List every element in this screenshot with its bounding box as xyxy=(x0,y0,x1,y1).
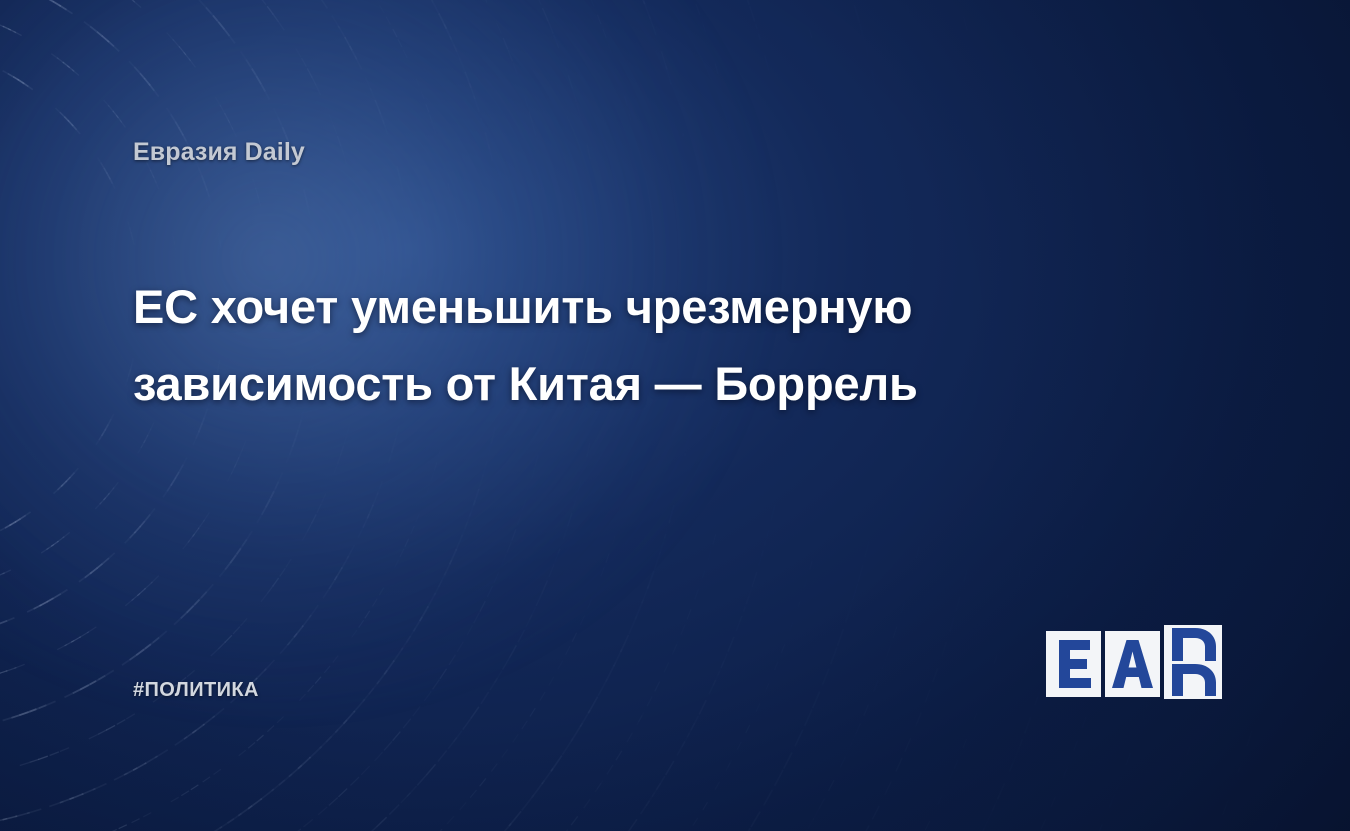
logo-letter-d-lower-icon xyxy=(1164,664,1222,699)
card-content: Евразия Daily ЕС хочет уменьшить чрезмер… xyxy=(0,0,1350,831)
logo-letter-a-icon xyxy=(1105,631,1160,697)
logo-letter-d-icon xyxy=(1164,625,1222,664)
headline-line-2: зависимость от Китая — Боррель xyxy=(133,345,1093,422)
eadaily-logo[interactable] xyxy=(1046,625,1224,699)
headline: ЕС хочет уменьшить чрезмерную зависимост… xyxy=(133,268,1093,422)
headline-line-1: ЕС хочет уменьшить чрезмерную xyxy=(133,268,1093,345)
social-share-card: Евразия Daily ЕС хочет уменьшить чрезмер… xyxy=(0,0,1350,831)
topic-tag[interactable]: #ПОЛИТИКА xyxy=(133,679,259,702)
logo-letter-e-icon xyxy=(1046,631,1101,697)
brand-title: Евразия Daily xyxy=(133,138,305,167)
